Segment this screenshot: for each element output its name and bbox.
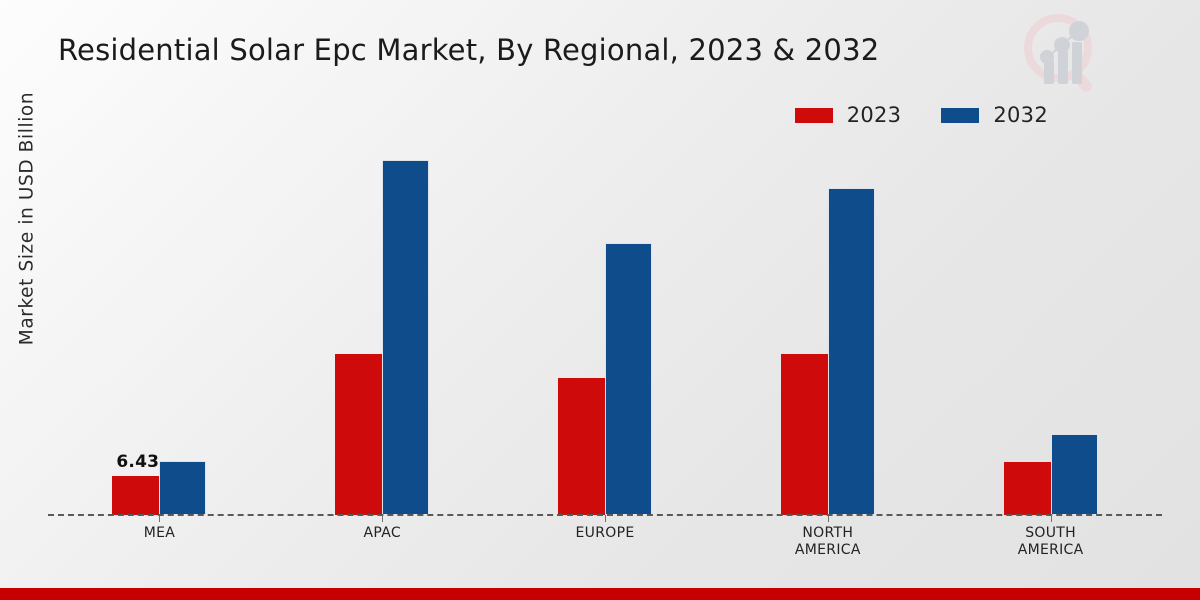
bar-2032-europe[interactable]: [605, 243, 652, 515]
legend-label-2023: 2023: [847, 103, 902, 127]
footer-stripe: [0, 588, 1200, 600]
bar-2023-north-america[interactable]: [781, 354, 828, 515]
bars-wrap: [48, 140, 271, 515]
axis-tick: [1051, 515, 1052, 522]
bar-2032-apac[interactable]: [382, 160, 429, 515]
bar-group: [716, 140, 939, 515]
axis-tick: [159, 515, 160, 522]
bars-wrap: [271, 140, 494, 515]
axis-tick: [828, 515, 829, 522]
bars-wrap: [716, 140, 939, 515]
category-label-south-america: SOUTH AMERICA: [971, 525, 1131, 559]
legend-item-2023[interactable]: 2023: [795, 103, 902, 127]
axis-tick: [605, 515, 606, 522]
bars-wrap: [939, 140, 1162, 515]
watermark-logo-icon: [1014, 6, 1112, 102]
bar-2032-north-america[interactable]: [828, 188, 875, 515]
chart-legend: 2023 2032: [795, 103, 1048, 127]
bar-group: [48, 140, 271, 515]
bar-2023-europe[interactable]: [558, 378, 605, 515]
bars-wrap: [494, 140, 717, 515]
chart-title: Residential Solar Epc Market, By Regiona…: [58, 33, 879, 67]
bar-2032-mea[interactable]: [159, 461, 206, 515]
chart-container: Residential Solar Epc Market, By Regiona…: [0, 0, 1200, 600]
plot-area: 6.43: [48, 140, 1162, 515]
category-label-apac: APAC: [302, 525, 462, 542]
axis-tick: [382, 515, 383, 522]
bar-group: [271, 140, 494, 515]
legend-item-2032[interactable]: 2032: [941, 103, 1048, 127]
bar-2023-apac[interactable]: [335, 354, 382, 515]
category-label-europe: EUROPE: [525, 525, 685, 542]
bar-group: [494, 140, 717, 515]
bar-group: [939, 140, 1162, 515]
legend-swatch-2023: [795, 108, 833, 123]
legend-swatch-2032: [941, 108, 979, 123]
bar-2023-mea[interactable]: [112, 476, 159, 515]
category-label-mea: MEA: [79, 525, 239, 542]
bar-2032-south-america[interactable]: [1051, 434, 1098, 515]
bar-2023-south-america[interactable]: [1004, 462, 1051, 515]
y-axis-title: Market Size in USD Billion: [17, 49, 38, 389]
legend-label-2032: 2032: [993, 103, 1048, 127]
category-label-north-america: NORTH AMERICA: [748, 525, 908, 559]
